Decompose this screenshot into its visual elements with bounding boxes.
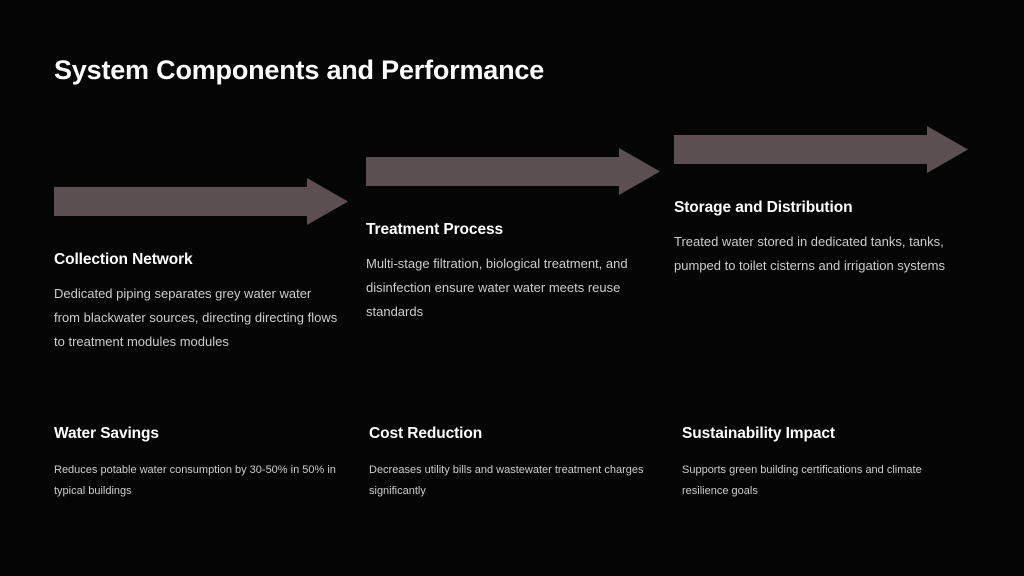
slide-canvas: System Components and Performance Collec… xyxy=(0,0,1024,576)
process-step-1: Collection Network Dedicated piping sepa… xyxy=(54,178,354,354)
benefit-item-2: Cost Reduction Decreases utility bills a… xyxy=(369,425,669,502)
benefit-body: Reduces potable water consumption by 30-… xyxy=(54,460,339,502)
benefit-item-1: Water Savings Reduces potable water cons… xyxy=(54,425,354,502)
benefit-body: Decreases utility bills and wastewater t… xyxy=(369,460,654,502)
process-step-body: Multi-stage filtration, biological treat… xyxy=(366,252,651,324)
process-step-body: Dedicated piping separates grey water wa… xyxy=(54,282,339,354)
benefit-heading: Cost Reduction xyxy=(369,425,669,443)
right-arrow-icon xyxy=(674,126,968,173)
process-step-body: Treated water stored in dedicated tanks,… xyxy=(674,230,959,278)
process-step-heading: Collection Network xyxy=(54,251,354,269)
right-arrow-icon xyxy=(366,148,660,195)
process-step-3: Storage and Distribution Treated water s… xyxy=(674,126,974,278)
process-step-heading: Storage and Distribution xyxy=(674,199,974,217)
page-title: System Components and Performance xyxy=(54,55,544,86)
process-step-heading: Treatment Process xyxy=(366,221,666,239)
benefit-item-3: Sustainability Impact Supports green bui… xyxy=(682,425,982,502)
right-arrow-icon xyxy=(54,178,348,225)
benefit-heading: Sustainability Impact xyxy=(682,425,982,443)
benefit-heading: Water Savings xyxy=(54,425,354,443)
benefit-body: Supports green building certifications a… xyxy=(682,460,967,502)
process-step-2: Treatment Process Multi-stage filtration… xyxy=(366,148,666,324)
